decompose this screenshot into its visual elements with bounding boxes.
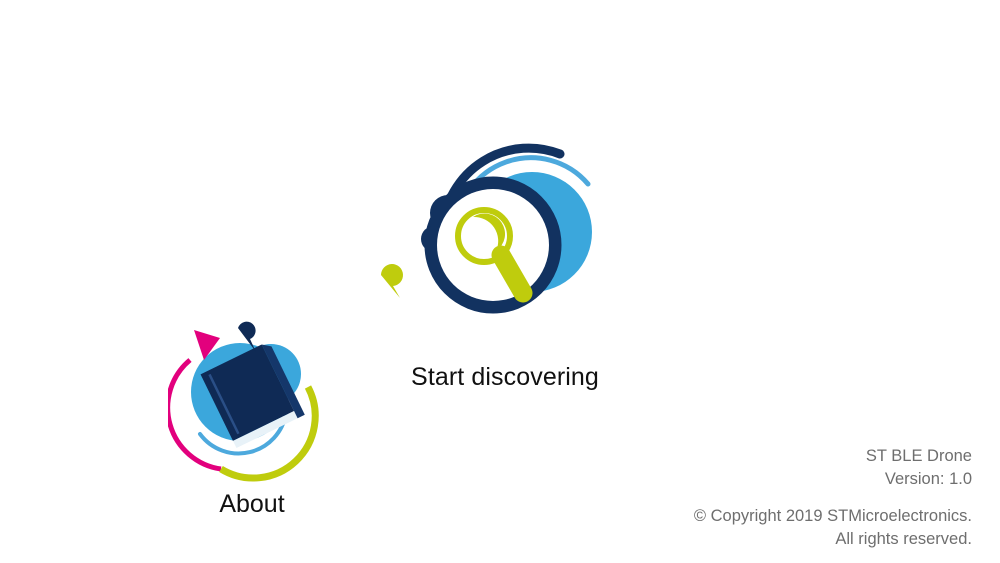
- footer-app-version: Version: 1.0: [694, 468, 972, 491]
- menu-item-start-discovering[interactable]: Start discovering: [360, 135, 650, 405]
- footer: ST BLE Drone Version: 1.0 © Copyright 20…: [694, 445, 972, 551]
- menu-item-label-start-discovering: Start discovering: [360, 363, 650, 392]
- menu-item-label-about: About: [168, 490, 336, 519]
- footer-app-name: ST BLE Drone: [694, 445, 972, 468]
- footer-rights: All rights reserved.: [694, 528, 972, 551]
- app-info-block: ST BLE Drone Version: 1.0: [694, 445, 972, 491]
- footer-copyright: © Copyright 2019 STMicroelectronics.: [694, 505, 972, 528]
- magnifier-icon: [360, 135, 650, 350]
- app-screen: Start discovering: [0, 0, 1000, 563]
- menu-item-about[interactable]: About: [168, 312, 336, 527]
- book-icon: [168, 312, 336, 484]
